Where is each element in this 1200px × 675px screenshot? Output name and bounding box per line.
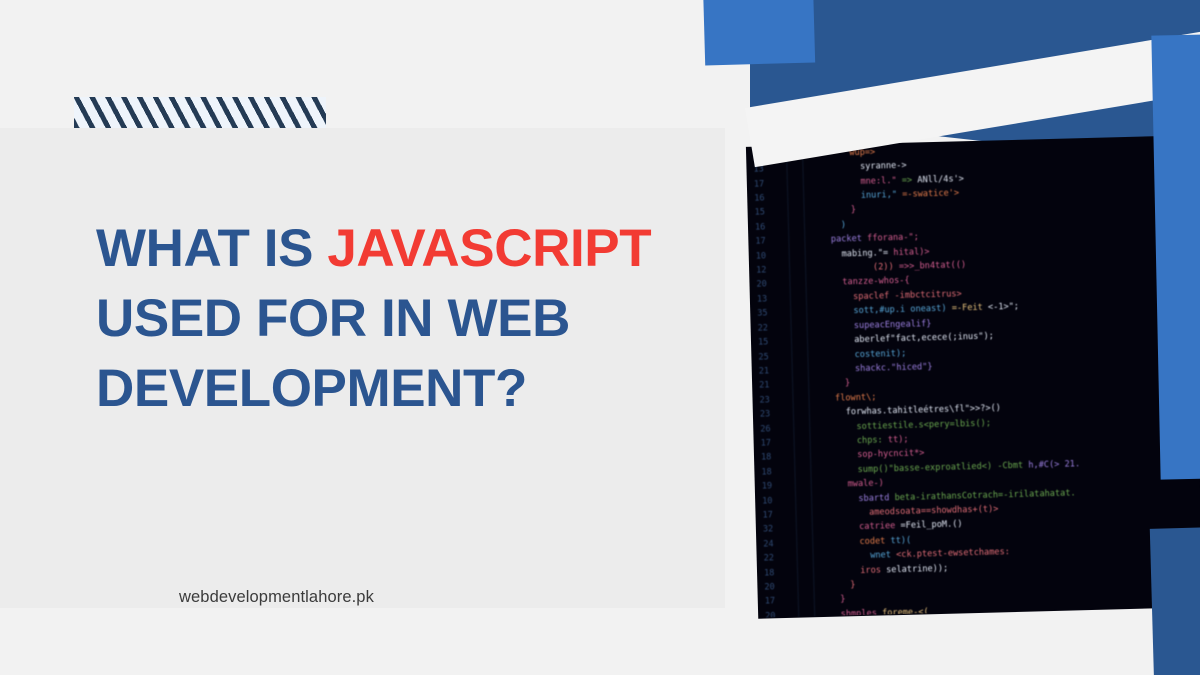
code-line-number: 24 — [763, 537, 796, 552]
code-line-number: 25 — [758, 349, 791, 364]
code-line-number: 20 — [765, 609, 798, 618]
code-line-number: 21 — [759, 378, 792, 393]
code-line-number: 20 — [756, 277, 789, 292]
code-line-number: 10 — [756, 248, 789, 263]
code-line-number: 21 — [759, 364, 792, 379]
poster-canvas: WHAT IS JAVASCRIPTUSED FOR IN WEBDEVELOP… — [0, 0, 1200, 675]
code-line-number: 17 — [760, 436, 793, 451]
code-line-number: 22 — [757, 320, 790, 335]
site-url-label: webdevelopmentlahore.pk — [179, 588, 374, 607]
code-line-number: 26 — [760, 421, 793, 436]
blue-bar-right-upper — [1151, 34, 1200, 479]
code-line-number: 32 — [763, 522, 796, 537]
code-line-number: 13 — [757, 292, 790, 307]
code-line-number: 23 — [760, 407, 793, 422]
code-text-area: <unc&l=[>'(1) "),; ee; "=Vlc-> wup=> syr… — [802, 136, 1200, 617]
code-line-number: 15 — [758, 335, 791, 350]
title-accent-javascript: JAVASCRIPT — [327, 219, 651, 278]
code-line-number: 16 — [755, 220, 788, 235]
code-line-number: 17 — [762, 508, 795, 523]
title-line2: USED FOR IN WEB — [96, 289, 570, 348]
title-line3: DEVELOPMENT? — [96, 359, 527, 418]
code-line-number: 18 — [764, 565, 797, 580]
code-editor-body: 2322241317161516171012201335221525212123… — [747, 136, 1200, 617]
code-line-number: 20 — [764, 580, 797, 595]
code-line-number: 17 — [754, 176, 787, 191]
code-editor-screenshot: 2322241317161516171012201335221525212123… — [747, 136, 1200, 617]
code-line-number: 10 — [762, 493, 795, 508]
code-line-number: 23 — [759, 393, 792, 408]
code-line-number: 19 — [762, 479, 795, 494]
code-line-number: 18 — [761, 450, 794, 465]
code-line-number: 16 — [754, 191, 787, 206]
code-line-number: 17 — [765, 594, 798, 609]
right-artwork: 2322241317161516171012201335221525212123… — [690, 0, 1200, 675]
page-title: WHAT IS JAVASCRIPTUSED FOR IN WEBDEVELOP… — [96, 214, 696, 424]
code-line-number: 35 — [757, 306, 790, 321]
blue-bar-right-lower — [1150, 527, 1200, 675]
diagonal-stripe-decoration — [74, 97, 326, 128]
code-line-number: 15 — [754, 205, 787, 220]
code-line-number: 17 — [755, 234, 788, 249]
code-line-number: 18 — [761, 465, 794, 480]
blue-square-light — [703, 0, 815, 66]
title-line1-prefix: WHAT IS — [96, 219, 327, 278]
code-line-number: 12 — [756, 263, 789, 278]
code-line-number: 22 — [764, 551, 797, 566]
